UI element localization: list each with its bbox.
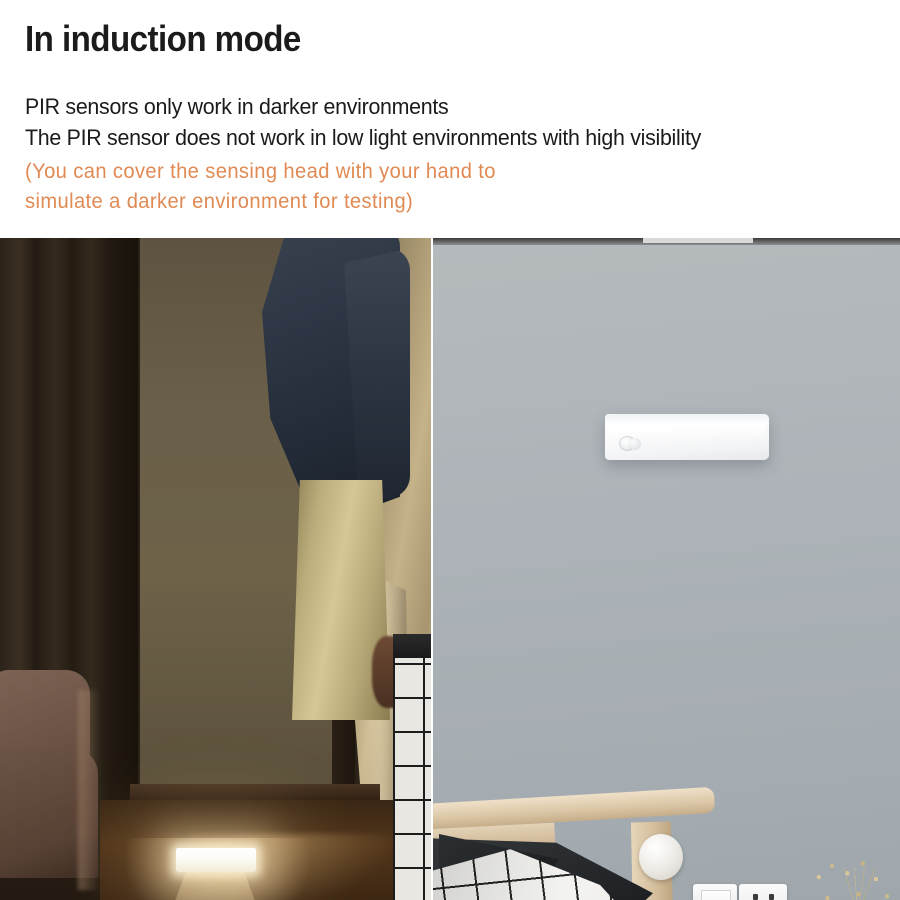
sofa-seam-highlight — [78, 690, 100, 890]
ceiling-highlight — [643, 238, 753, 243]
socket-pin-slot — [753, 894, 758, 900]
photo-bright-room — [433, 238, 900, 900]
photo-dark-room — [0, 238, 431, 900]
grid-fabric-sliver — [393, 658, 431, 900]
subtitle-line-1: PIR sensors only work in darker environm… — [25, 94, 448, 120]
note-line-1: (You can cover the sensing head with you… — [25, 160, 496, 184]
note-line-2: simulate a darker environment for testin… — [25, 190, 413, 214]
socket-pin-slot — [769, 894, 774, 900]
light-switch-rocker[interactable] — [701, 890, 731, 900]
pillow-pompom — [639, 834, 683, 880]
wall-power-socket[interactable] — [739, 884, 787, 900]
comparison-photo-strip: PIR sensors only sense in darker environ… — [0, 238, 900, 900]
dried-flower-buds — [799, 856, 900, 900]
pir-sensor-secondary-icon — [629, 438, 641, 450]
subtitle-line-2: The PIR sensor does not work in low ligh… — [25, 125, 701, 151]
product-infographic: In induction mode PIR sensors only work … — [0, 0, 900, 900]
header-text-block: In induction mode PIR sensors only work … — [0, 0, 900, 238]
pir-led-bar-light-illuminated — [176, 848, 256, 872]
panel-divider — [431, 238, 433, 900]
page-title: In induction mode — [25, 18, 301, 60]
